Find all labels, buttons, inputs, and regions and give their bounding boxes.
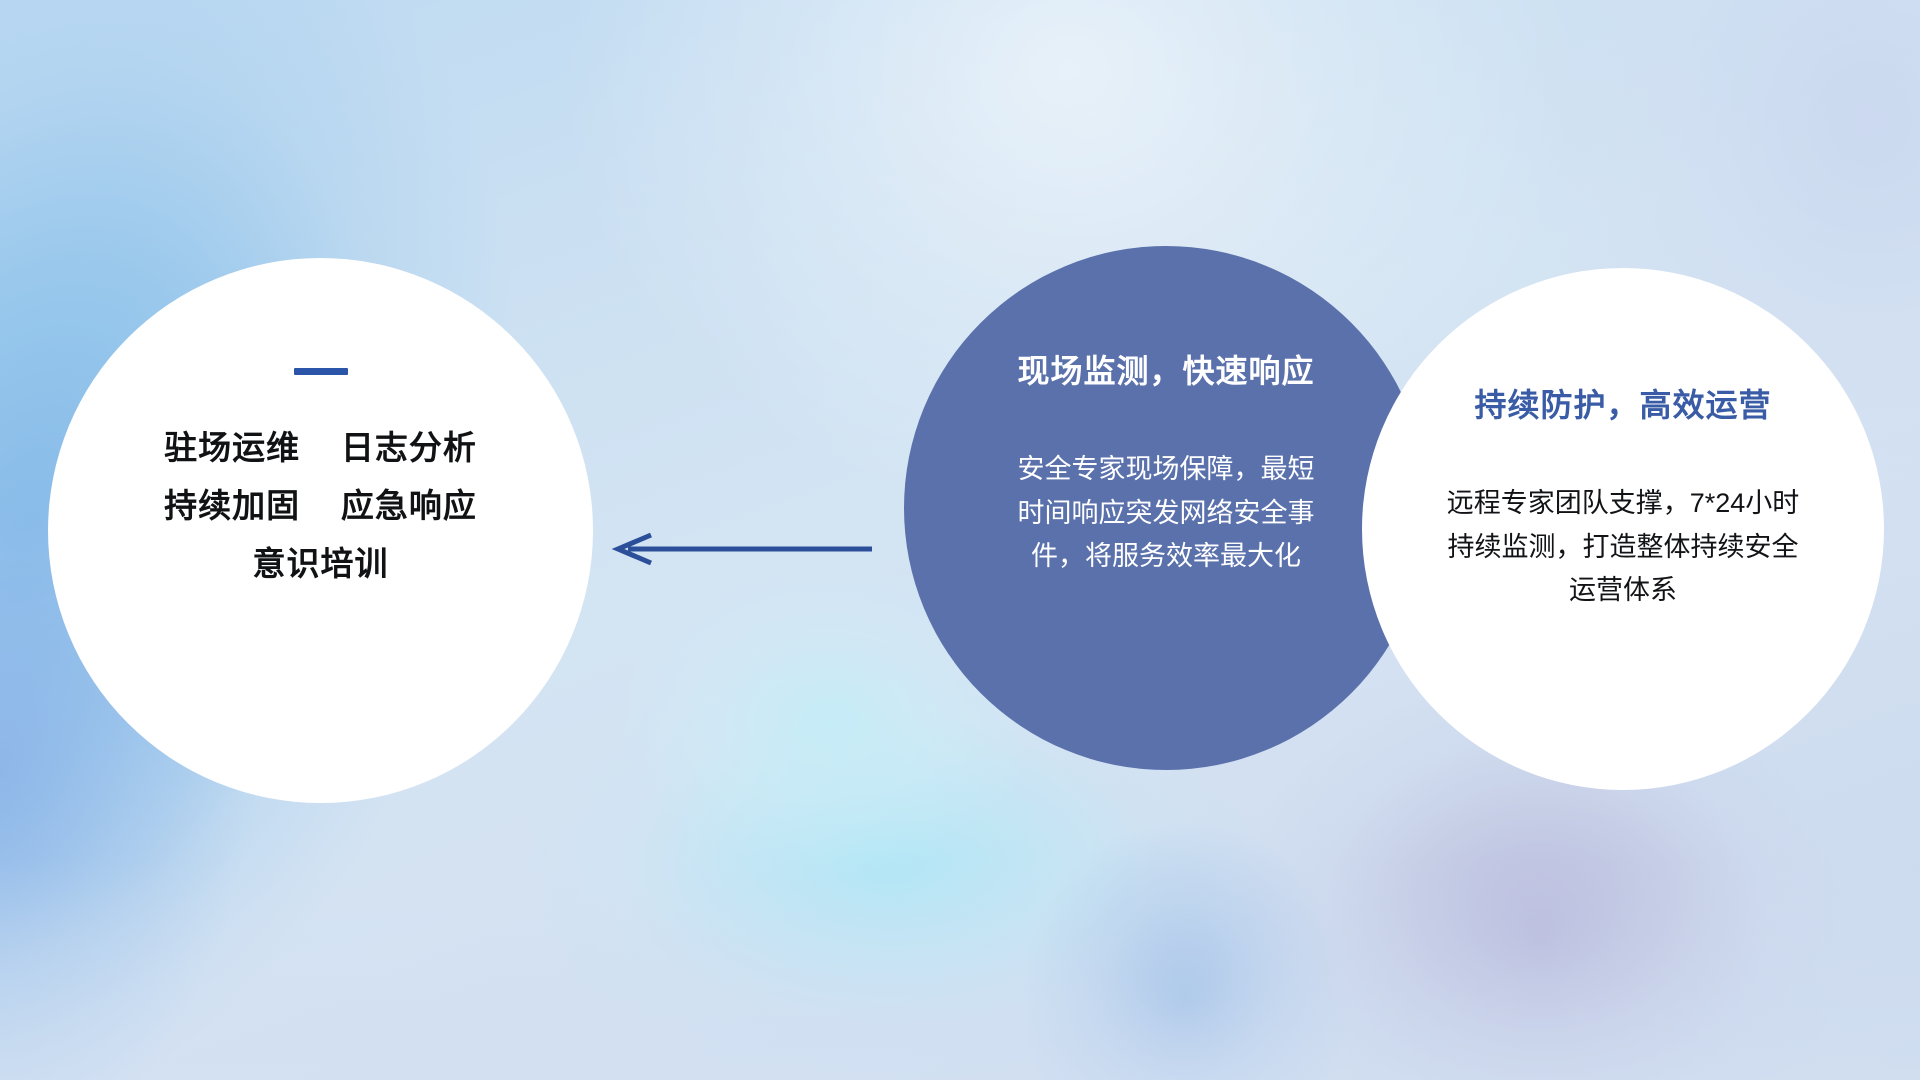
card-left-content: 驻场运维 日志分析 持续加固 应急响应 意识培训: [48, 368, 593, 592]
card-right-body: 远程专家团队支撑，7*24小时持续监测，打造整体持续安全运营体系: [1439, 482, 1807, 613]
list-item: 持续加固 应急响应: [48, 477, 593, 535]
list-item: 驻场运维 日志分析: [48, 419, 593, 477]
card-middle-onsite-monitoring[interactable]: 现场监测，快速响应 安全专家现场保障，最短时间响应突发网络安全事件，将服务效率最…: [904, 246, 1428, 770]
card-middle-spacer: [904, 392, 1428, 448]
list-item: 意识培训: [48, 535, 593, 593]
card-right-content: 持续防护，高效运营 远程专家团队支撑，7*24小时持续监测，打造整体持续安全运营…: [1362, 380, 1884, 613]
card-left-divider: [294, 368, 348, 375]
card-right-spacer: [1362, 426, 1884, 482]
card-right-title: 持续防护，高效运营: [1362, 380, 1884, 426]
slide-canvas: 现场监测，快速响应 安全专家现场保障，最短时间响应突发网络安全事件，将服务效率最…: [0, 0, 1920, 1080]
card-left-capabilities[interactable]: 驻场运维 日志分析 持续加固 应急响应 意识培训: [48, 258, 593, 803]
card-left-keyword-list: 驻场运维 日志分析 持续加固 应急响应 意识培训: [48, 419, 593, 592]
card-middle-title: 现场监测，快速响应: [904, 346, 1428, 392]
card-middle-content: 现场监测，快速响应 安全专家现场保障，最短时间响应突发网络安全事件，将服务效率最…: [904, 346, 1428, 579]
card-middle-body: 安全专家现场保障，最短时间响应突发网络安全事件，将服务效率最大化: [1017, 448, 1315, 579]
card-right-continuous-protection[interactable]: 持续防护，高效运营 远程专家团队支撑，7*24小时持续监测，打造整体持续安全运营…: [1362, 268, 1884, 790]
